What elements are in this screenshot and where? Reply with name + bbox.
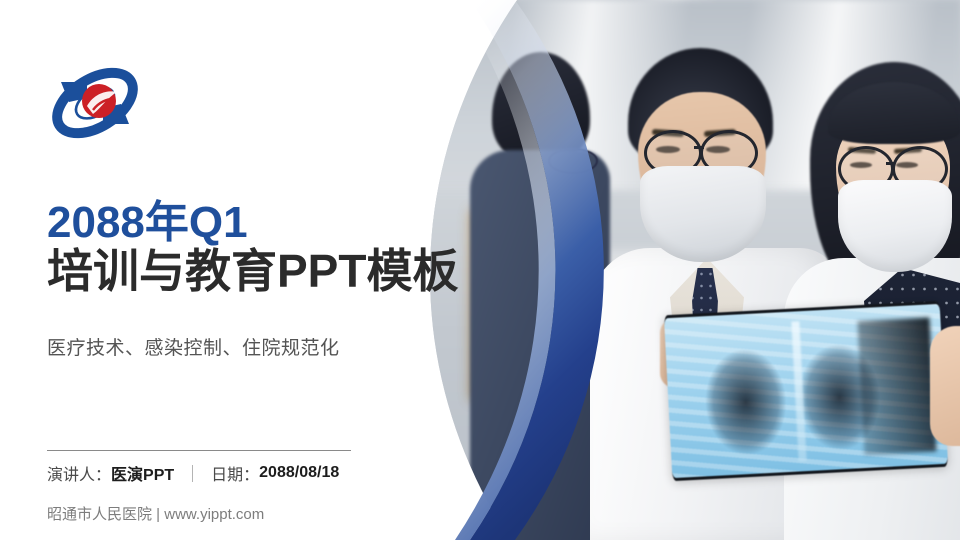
xray-spine [791, 321, 806, 462]
footer-divider [47, 450, 351, 451]
female-doctor-glasses-bridge [886, 162, 894, 165]
meta-separator [192, 465, 193, 482]
presenter-label: 演讲人： [47, 461, 111, 485]
title-line-1: 2088年Q1 [47, 200, 517, 246]
xray-shadow-region [858, 317, 937, 455]
date-value: 2088/08/18 [259, 464, 339, 482]
page-title: 2088年Q1 培训与教育PPT模板 [47, 200, 517, 298]
presenter-value: 医演PPT [111, 461, 174, 485]
date-label: 日期： [211, 461, 259, 485]
presentation-slide: 2088年Q1 培训与教育PPT模板 医疗技术、感染控制、住院规范化 演讲人： … [0, 0, 960, 540]
male-doctor-glasses-bridge [694, 146, 704, 149]
chest-xray-film [664, 301, 948, 481]
hospital-website-line: 昭通市人民医院 | www.yippt.com [47, 503, 264, 524]
title-line-2: 培训与教育PPT模板 [47, 246, 517, 298]
right-hand-holding-film [930, 326, 960, 446]
third-person-glasses [548, 148, 598, 174]
subtitle: 医疗技术、感染控制、住院规范化 [47, 333, 340, 360]
presenter-meta: 演讲人： 医演PPT 日期： 2088/08/18 [47, 461, 339, 485]
title-content-area: 2088年Q1 培训与教育PPT模板 医疗技术、感染控制、住院规范化 演讲人： … [0, 0, 440, 540]
hospital-logo-icon [47, 58, 143, 148]
xray-image [664, 301, 948, 481]
